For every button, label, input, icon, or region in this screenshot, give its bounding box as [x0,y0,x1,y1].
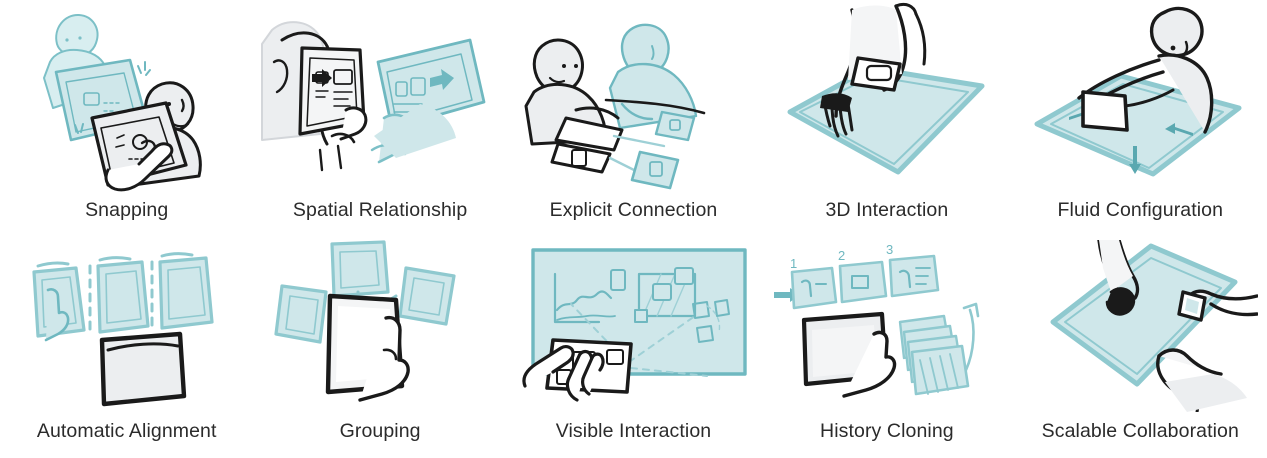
illustration-3d-interaction [760,0,1013,195]
caption-spatial-relationship: Spatial Relationship [293,201,467,221]
cell-fluid-configuration: Fluid Configuration [1014,0,1267,240]
cell-snapping: Snapping [0,0,253,240]
history-step-2: 2 [838,248,845,263]
caption-scalable-collaboration: Scalable Collaboration [1042,422,1239,442]
cell-scalable-collaboration: Scalable Collaboration [1014,240,1267,458]
cell-explicit-connection: Explicit Connection [507,0,760,240]
illustration-history-cloning: 1 2 3 [760,240,1013,412]
cell-spatial-relationship: Spatial Relationship [253,0,506,240]
caption-history-cloning: History Cloning [820,422,954,442]
caption-explicit-connection: Explicit Connection [550,201,718,221]
cell-history-cloning: 1 2 3 [760,240,1013,458]
illustration-grouping [253,240,506,412]
caption-snapping: Snapping [85,201,168,221]
illustration-scalable-collaboration [1014,240,1267,412]
caption-fluid-configuration: Fluid Configuration [1058,201,1224,221]
history-step-3: 3 [886,242,893,257]
caption-automatic-alignment: Automatic Alignment [37,422,217,442]
illustration-automatic-alignment [0,240,253,412]
cell-visible-interaction: Visible Interaction [507,240,760,458]
illustration-visible-interaction [507,240,760,412]
sketch-grid: Snapping [0,0,1267,458]
cell-automatic-alignment: Automatic Alignment [0,240,253,458]
caption-grouping: Grouping [340,422,421,442]
caption-visible-interaction: Visible Interaction [556,422,711,442]
illustration-spatial-relationship [253,0,506,195]
history-step-1: 1 [790,256,797,271]
cell-grouping: Grouping [253,240,506,458]
cell-3d-interaction: 3D Interaction [760,0,1013,240]
illustration-fluid-configuration [1014,0,1267,195]
caption-3d-interaction: 3D Interaction [825,201,948,221]
illustration-snapping [0,0,253,195]
illustration-explicit-connection [507,0,760,195]
